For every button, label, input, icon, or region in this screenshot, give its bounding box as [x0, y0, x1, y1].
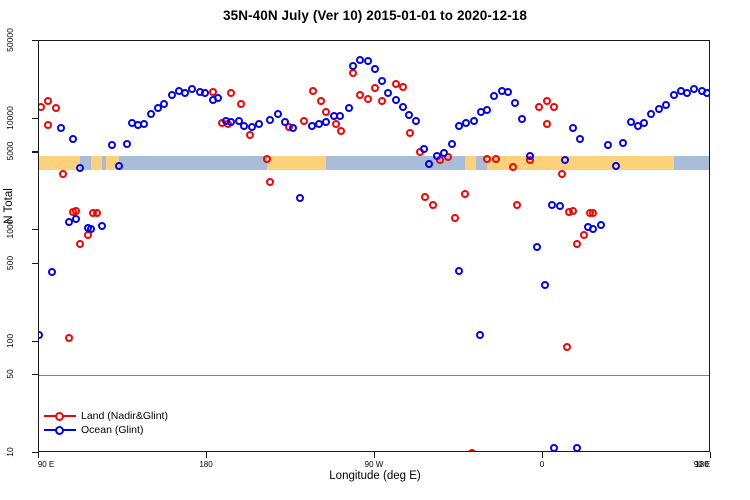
data-point-land	[227, 89, 235, 97]
data-point-ocean	[336, 112, 344, 120]
data-point-land	[492, 155, 500, 163]
data-point-ocean	[201, 89, 209, 97]
legend-marker-land-icon	[44, 410, 76, 422]
data-point-land	[44, 121, 52, 129]
data-point-ocean	[490, 92, 498, 100]
data-point-ocean	[412, 117, 420, 125]
data-point-land	[421, 193, 429, 201]
data-point-ocean	[140, 120, 148, 128]
data-point-land	[263, 155, 271, 163]
data-point-land	[399, 83, 407, 91]
data-point-land	[356, 91, 364, 99]
data-point-ocean	[541, 281, 549, 289]
land-mask-segment	[91, 156, 102, 170]
data-point-land	[371, 84, 379, 92]
data-point-ocean	[227, 118, 235, 126]
data-point-land	[535, 103, 543, 111]
data-point-ocean	[392, 96, 400, 104]
data-point-ocean	[556, 202, 564, 210]
data-point-land	[52, 104, 60, 112]
data-point-land	[93, 209, 101, 217]
y-tick	[32, 263, 38, 264]
data-point-land	[580, 231, 588, 239]
data-point-ocean	[108, 141, 116, 149]
data-point-land	[76, 240, 84, 248]
data-point-ocean	[69, 135, 77, 143]
data-point-ocean	[289, 124, 297, 132]
x-tick-label: 180	[199, 460, 212, 469]
data-point-ocean	[48, 268, 56, 276]
data-point-ocean	[371, 65, 379, 73]
data-point-ocean	[214, 94, 222, 102]
chart-title: 35N-40N July (Ver 10) 2015-01-01 to 2020…	[0, 8, 750, 23]
data-point-ocean	[533, 243, 541, 251]
data-point-ocean	[356, 56, 364, 64]
data-point-land	[429, 201, 437, 209]
y-tick	[32, 151, 38, 152]
data-point-ocean	[364, 57, 372, 65]
data-point-land	[44, 97, 52, 105]
data-point-ocean	[703, 89, 710, 97]
data-point-ocean	[405, 111, 413, 119]
data-point-ocean	[274, 110, 282, 118]
data-point-land	[550, 103, 558, 111]
data-point-ocean	[345, 104, 353, 112]
data-point-ocean	[597, 221, 605, 229]
data-point-ocean	[123, 140, 131, 148]
data-point-land	[563, 343, 571, 351]
land-mask-segment	[267, 156, 327, 170]
land-ocean-mask-band	[39, 156, 709, 170]
legend-label-ocean: Ocean (Glint)	[81, 423, 143, 437]
data-point-land	[237, 100, 245, 108]
x-tick-label: 90 E	[38, 460, 54, 469]
data-point-land	[59, 170, 67, 178]
data-point-land	[543, 97, 551, 105]
legend-item-land: Land (Nadir&Glint)	[44, 409, 168, 423]
y-tick	[32, 374, 38, 375]
data-point-ocean	[470, 117, 478, 125]
data-point-ocean	[448, 140, 456, 148]
land-mask-segment	[465, 156, 476, 170]
legend-marker-ocean-icon	[44, 424, 76, 436]
data-point-land	[364, 95, 372, 103]
data-point-land	[558, 170, 566, 178]
x-tick-label: 90 W	[365, 460, 384, 469]
data-point-land	[65, 334, 73, 342]
y-tick-label: 10000	[4, 98, 16, 138]
legend-label-land: Land (Nadir&Glint)	[81, 409, 168, 423]
data-point-land	[543, 120, 551, 128]
data-point-ocean	[589, 225, 597, 233]
legend-item-ocean: Ocean (Glint)	[44, 423, 168, 437]
data-point-land	[337, 127, 345, 135]
data-point-ocean	[518, 115, 526, 123]
data-point-ocean	[87, 225, 95, 233]
x-tick-label: 180	[695, 460, 708, 469]
data-point-ocean	[612, 162, 620, 170]
x-tick-label: 0	[540, 460, 544, 469]
x-axis: 90 E18090 W090 E180	[38, 452, 710, 472]
data-point-ocean	[72, 215, 80, 223]
data-point-land	[349, 69, 357, 77]
land-mask-segment	[39, 156, 80, 170]
x-tick	[542, 452, 543, 458]
y-tick	[32, 341, 38, 342]
data-point-ocean	[322, 118, 330, 126]
data-point-land	[569, 207, 577, 215]
x-tick	[374, 452, 375, 458]
data-point-ocean	[604, 141, 612, 149]
data-point-ocean	[483, 106, 491, 114]
data-point-land	[461, 190, 469, 198]
plot-area	[38, 40, 710, 452]
data-point-ocean	[455, 267, 463, 275]
data-point-land	[589, 209, 597, 217]
data-point-ocean	[511, 99, 519, 107]
data-point-ocean	[38, 331, 43, 339]
data-point-ocean	[255, 120, 263, 128]
y-tick-label: 10	[4, 432, 16, 472]
reference-line-50	[39, 375, 709, 376]
y-axis: 1050100500100050001000050000	[32, 40, 38, 452]
data-point-land	[309, 87, 317, 95]
y-tick-label: 50000	[4, 20, 16, 60]
data-point-ocean	[349, 62, 357, 70]
data-point-land	[513, 201, 521, 209]
data-point-ocean	[619, 139, 627, 147]
data-point-ocean	[188, 85, 196, 93]
data-point-land	[72, 207, 80, 215]
data-point-land	[38, 103, 45, 111]
data-point-ocean	[98, 222, 106, 230]
data-point-land	[406, 129, 414, 137]
data-point-ocean	[296, 194, 304, 202]
data-point-ocean	[76, 164, 84, 172]
data-point-land	[246, 131, 254, 139]
y-tick-label: 100	[4, 321, 16, 361]
data-point-ocean	[690, 85, 698, 93]
data-point-land	[483, 155, 491, 163]
data-point-ocean	[384, 89, 392, 97]
data-point-ocean	[57, 124, 65, 132]
chart-figure: 35N-40N July (Ver 10) 2015-01-01 to 2020…	[0, 0, 750, 500]
data-point-ocean	[573, 444, 581, 452]
data-point-ocean	[115, 162, 123, 170]
data-point-ocean	[266, 116, 274, 124]
x-tick	[38, 452, 39, 458]
x-tick	[710, 452, 711, 458]
data-point-ocean	[662, 101, 670, 109]
data-point-ocean	[647, 110, 655, 118]
data-point-ocean	[550, 444, 558, 452]
x-axis-label: Longitude (deg E)	[0, 470, 750, 482]
data-point-land	[300, 117, 308, 125]
data-point-ocean	[420, 145, 428, 153]
chart-legend: Land (Nadir&Glint) Ocean (Glint)	[44, 409, 168, 437]
x-tick	[206, 452, 207, 458]
data-point-land	[451, 214, 459, 222]
data-point-ocean	[569, 124, 577, 132]
data-point-land	[378, 97, 386, 105]
data-point-land	[573, 240, 581, 248]
data-point-ocean	[576, 135, 584, 143]
data-point-land	[317, 97, 325, 105]
data-point-ocean	[476, 331, 484, 339]
data-point-ocean	[378, 77, 386, 85]
y-tick	[32, 118, 38, 119]
y-tick	[32, 229, 38, 230]
data-point-ocean	[160, 100, 168, 108]
data-point-ocean	[147, 110, 155, 118]
y-tick-label: 1000	[4, 209, 16, 249]
data-point-ocean	[640, 119, 648, 127]
data-point-ocean	[399, 103, 407, 111]
y-tick	[32, 40, 38, 41]
data-point-ocean	[504, 88, 512, 96]
data-point-land	[266, 178, 274, 186]
